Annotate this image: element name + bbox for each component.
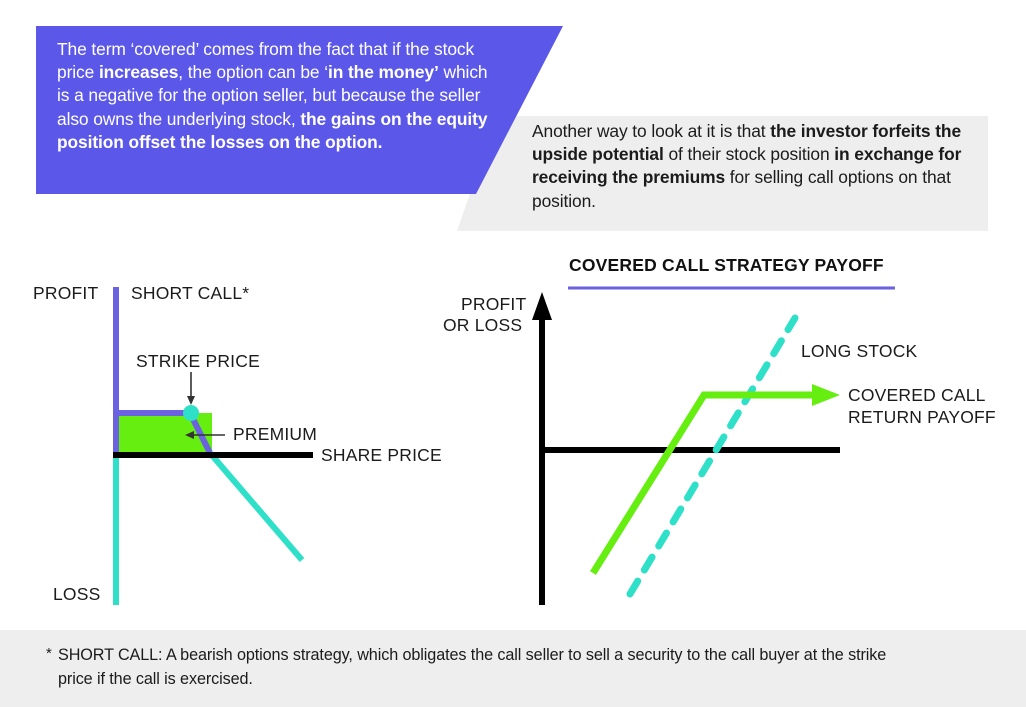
footnote-text: SHORT CALL: A bearish options strategy, … <box>58 643 1018 691</box>
gray-run-2: of their stock position <box>664 144 835 164</box>
covered-call-chart-title: COVERED CALL STRATEGY PAYOFF <box>569 255 884 276</box>
strike-price-arrow <box>187 372 195 405</box>
profit-or-loss-label-line2: OR LOSS <box>443 315 522 336</box>
footnote-line-2: price if the call is exercised. <box>58 670 253 688</box>
premium-label: PREMIUM <box>233 424 317 445</box>
strike-price-label: STRIKE PRICE <box>136 351 260 372</box>
short-call-chart: PROFIT SHORT CALL* STRIKE PRICE PREMIUM … <box>0 255 500 620</box>
short-call-descending-cyan <box>210 453 302 560</box>
long-stock-series-label: LONG STOCK <box>801 341 917 362</box>
covered-call-payoff-line <box>593 395 814 573</box>
gray-callout-text: Another way to look at it is that the in… <box>532 120 977 213</box>
loss-axis-label: LOSS <box>53 584 101 605</box>
strike-price-marker-dot <box>183 405 199 421</box>
purple-run-3: in the money’ <box>328 62 439 82</box>
profit-axis-label: PROFIT <box>33 283 98 304</box>
infographic-page: The term ‘covered’ comes from the fact t… <box>0 0 1026 707</box>
covered-call-series-label: COVERED CALL RETURN PAYOFF <box>848 384 998 428</box>
covered-call-arrowhead <box>812 384 840 406</box>
short-call-chart-title: SHORT CALL* <box>131 283 249 304</box>
footnote-asterisk: * <box>46 645 52 662</box>
purple-callout-text: The term ‘covered’ comes from the fact t… <box>57 38 502 154</box>
share-price-label: SHARE PRICE <box>321 445 442 466</box>
footnote-line-1: SHORT CALL: A bearish options strategy, … <box>58 646 886 664</box>
covered-call-chart: COVERED CALL STRATEGY PAYOFF PROFIT OR L… <box>500 240 1026 620</box>
long-stock-dashed-line <box>630 318 795 594</box>
purple-run-1: increases <box>99 62 178 82</box>
purple-run-2: , the option can be ‘ <box>178 62 328 82</box>
profit-or-loss-label-line1: PROFIT <box>461 294 526 315</box>
gray-run-0: Another way to look at it is that <box>532 121 770 141</box>
